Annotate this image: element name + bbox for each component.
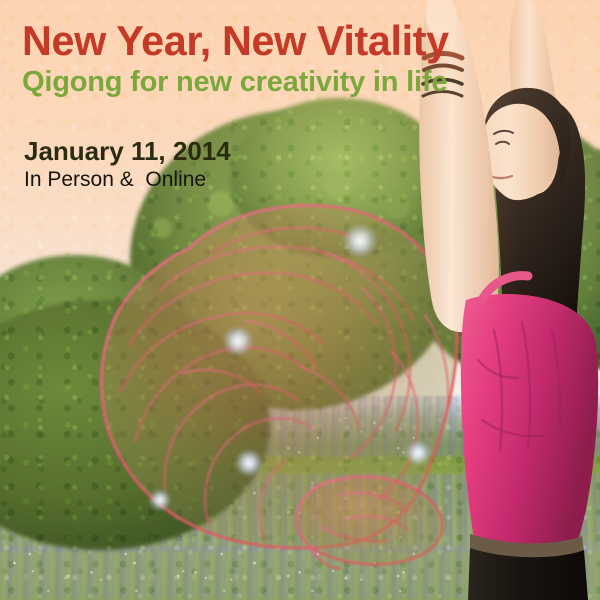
headline-block: New Year, New Vitality Qigong for new cr… <box>22 18 542 98</box>
page-title: New Year, New Vitality <box>22 18 534 64</box>
page-subtitle: Qigong for new creativity in life <box>22 66 542 98</box>
event-details-block: January 11, 2014 In Person & Online <box>24 136 344 192</box>
event-date: January 11, 2014 <box>24 136 344 166</box>
poster-canvas: New Year, New Vitality Qigong for new cr… <box>0 0 600 600</box>
event-mode: In Person & Online <box>24 167 344 192</box>
